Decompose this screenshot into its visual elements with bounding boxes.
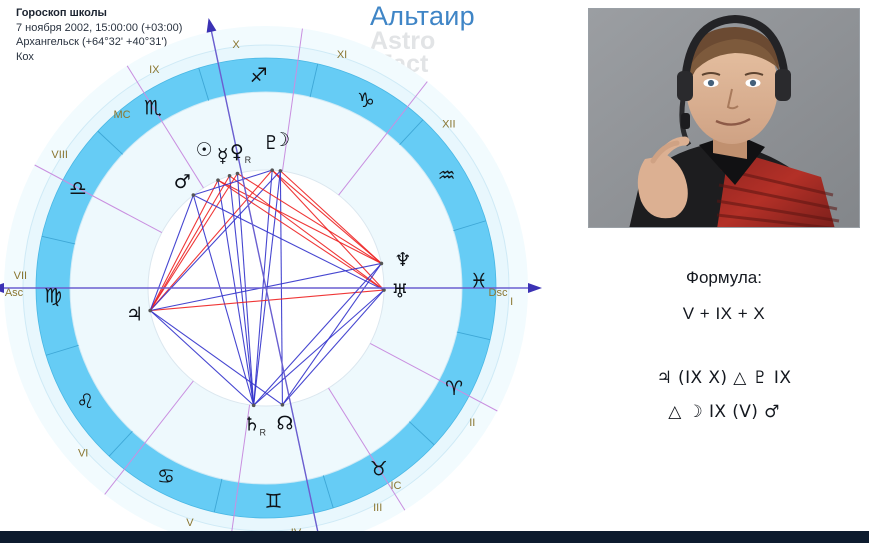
aspect-node: [236, 172, 240, 176]
house-numeral-II: II: [469, 417, 475, 429]
zodiac-glyph-taurus: ♉: [370, 457, 388, 481]
formula-expression: V + IX + X: [588, 304, 860, 324]
house-numeral-X: X: [232, 39, 240, 51]
aspect-node: [382, 288, 386, 292]
zodiac-glyph-capricorn: ♑: [357, 88, 375, 112]
aspect-node: [216, 178, 220, 182]
formula-title: Формула:: [588, 268, 860, 288]
planet-glyph-mars[interactable]: ♂: [174, 171, 191, 193]
formula-aspect-line-1: ♃ (IX X) △ ♇ IX: [588, 368, 860, 388]
planet-glyph-north-node[interactable]: ☊: [276, 413, 293, 435]
zodiac-glyph-gemini: ♊: [264, 489, 282, 513]
planet-glyph-venus[interactable]: ♀: [230, 141, 244, 163]
zodiac-glyph-scorpio: ♏: [144, 95, 162, 119]
aspect-node: [281, 403, 285, 407]
formula-panel: Формула: V + IX + X ♃ (IX X) △ ♇ IX △ ☽ …: [588, 268, 860, 422]
house-numeral-XII: XII: [442, 118, 455, 130]
house-numeral-IX: IX: [149, 64, 160, 76]
axis-arrowhead: [528, 283, 542, 293]
house-numeral-VIII: VIII: [51, 149, 68, 161]
zodiac-glyph-aquarius: ♒: [438, 163, 456, 187]
axis-arrowhead: [207, 18, 217, 33]
retrograde-marker-venus: R: [245, 155, 252, 165]
zodiac-glyph-aries: ♈: [445, 376, 463, 400]
house-numeral-VI: VI: [78, 448, 88, 460]
aspect-node: [380, 262, 384, 266]
planet-glyph-neptune[interactable]: ♆: [394, 249, 411, 271]
house-numeral-VII: VII: [14, 270, 27, 282]
axis-label-dsc: Dsc: [489, 287, 508, 299]
aspect-node: [252, 404, 256, 408]
aspect-node: [279, 169, 283, 173]
aspect-node: [148, 309, 152, 313]
planet-glyph-jupiter[interactable]: ♃: [126, 304, 143, 326]
natal-chart-wheel[interactable]: ♈♉♊♋♌♍♎♏♐♑♒♓ IIIIIIIVVVIVIIVIIIIXXXIXII …: [0, 8, 556, 536]
planet-glyph-uranus[interactable]: ♅: [391, 280, 408, 302]
axis-label-ic: IC: [391, 480, 402, 492]
house-numeral-III: III: [373, 502, 382, 514]
zodiac-glyph-pisces: ♓: [470, 269, 488, 293]
zodiac-glyph-leo: ♌: [76, 389, 94, 413]
planet-glyph-sun[interactable]: ☉: [196, 139, 213, 161]
portrait-photo: [588, 8, 860, 228]
retrograde-marker-saturn: R: [260, 427, 267, 437]
axis-label-asc: Asc: [5, 287, 24, 299]
zodiac-glyph-virgo: ♍: [44, 283, 62, 307]
house-numeral-XI: XI: [337, 49, 347, 61]
aspect-node: [192, 193, 196, 197]
axis-arrowhead: [0, 283, 4, 293]
zodiac-glyph-libra: ♎: [69, 176, 87, 200]
aspect-node: [228, 174, 232, 178]
planet-glyph-pluto[interactable]: ♇: [263, 132, 280, 154]
planet-glyph-saturn[interactable]: ♄: [243, 413, 260, 435]
axis-label-mc: MC: [113, 109, 130, 121]
formula-aspect-line-2: △ ☽ IX (V) ♂: [588, 402, 860, 422]
zodiac-glyph-sagittarius: ♐: [250, 63, 268, 87]
aspect-node: [270, 168, 274, 172]
bottom-bar: [0, 531, 869, 543]
portrait-photo-image: [589, 9, 860, 228]
zodiac-glyph-cancer: ♋: [157, 464, 175, 488]
house-numeral-I: I: [510, 296, 513, 308]
planet-glyph-mercury[interactable]: ☿: [217, 145, 229, 167]
house-numeral-V: V: [186, 517, 194, 529]
